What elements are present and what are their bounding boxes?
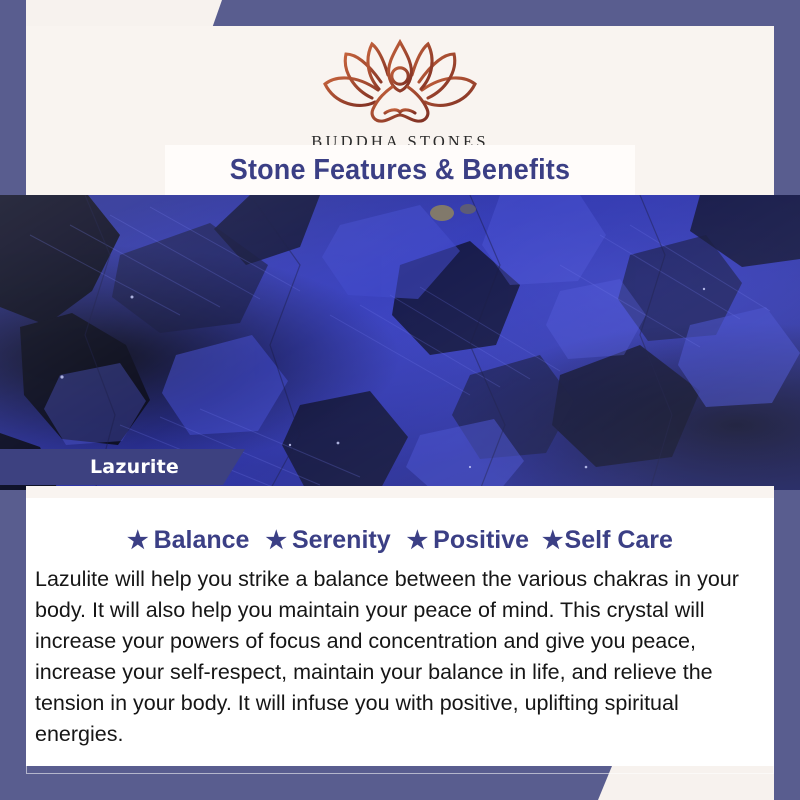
lotus-meditation-logo-icon [315,34,485,130]
benefit-item-positive: ★ Positive [407,526,529,555]
benefit-item-balance: ★ Balance [127,526,249,555]
benefits-row: ★ Balance ★ Serenity ★ Positive ★ Self C… [26,526,774,555]
benefit-item-serenity: ★ Serenity [265,526,390,555]
stone-name-tag: Lazurite [0,449,245,485]
infographic-card: BUDDHA STONES Stone Features & Benefits [0,0,800,800]
star-icon: ★ [127,529,149,553]
benefit-label: Balance [154,526,250,555]
benefit-item-self-care: ★ Self Care [542,526,673,555]
panel-top-strip [26,486,774,498]
brand-lockup: BUDDHA STONES [26,34,774,152]
benefit-label: Self Care [565,526,673,555]
star-icon: ★ [265,529,287,553]
star-icon: ★ [407,529,429,553]
benefit-label: Positive [433,526,529,555]
benefit-label: Serenity [292,526,391,555]
stone-photo [0,195,800,490]
star-icon: ★ [542,529,564,553]
stone-name-label: Lazurite [90,456,179,478]
stone-description: Lazulite will help you strike a balance … [35,564,765,750]
title-plaque: Stone Features & Benefits [165,145,635,195]
stone-photo-image [0,195,800,490]
page-title: Stone Features & Benefits [230,154,570,187]
decor-band-bottom [0,766,612,800]
content-panel: ★ Balance ★ Serenity ★ Positive ★ Self C… [26,486,774,766]
